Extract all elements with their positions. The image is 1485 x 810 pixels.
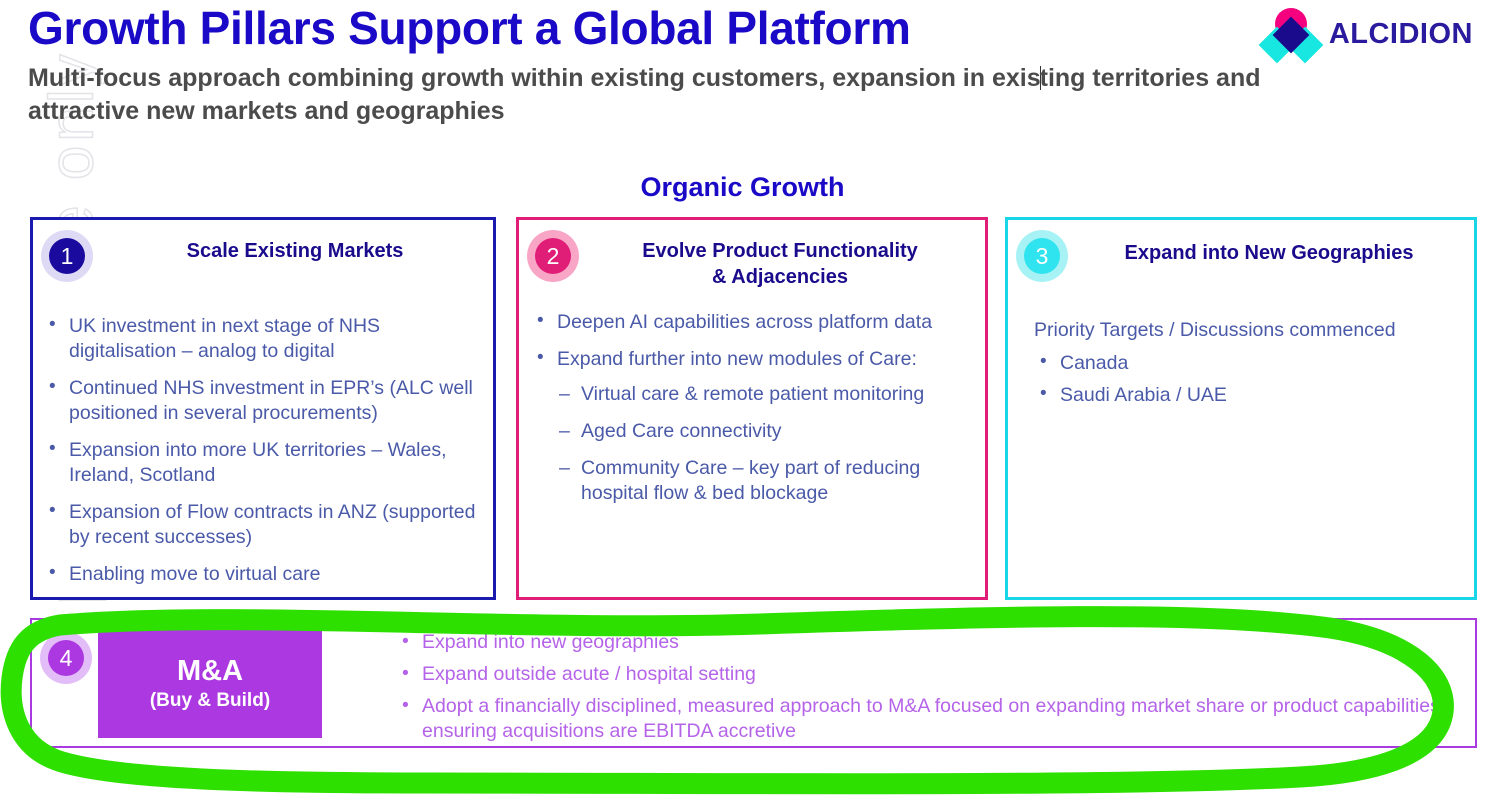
- pillar-sub-bullet-list-2: Virtual care & remote patient monitoring…: [557, 382, 969, 506]
- pillar-badge-4-number: 4: [48, 640, 84, 676]
- pillar-card-evolve-product-functionality: 2 Evolve Product Functionality & Adjacen…: [516, 217, 988, 600]
- list-item: Saudi Arabia / UAE: [1034, 383, 1458, 408]
- ma-label-main: M&A: [177, 656, 243, 686]
- page-title: Growth Pillars Support a Global Platform: [28, 2, 1228, 55]
- pillar-badge-2: 2: [527, 230, 579, 282]
- list-item: Expansion of Flow contracts in ANZ (supp…: [47, 500, 477, 550]
- pillar-card-header: 2 Evolve Product Functionality & Adjacen…: [519, 220, 985, 296]
- pillar-title-2: Evolve Product Functionality & Adjacenci…: [583, 238, 977, 290]
- pillar-body-2: Deepen AI capabilities across platform d…: [519, 296, 985, 506]
- pillar-bullet-list-1: UK investment in next stage of NHS digit…: [47, 314, 477, 587]
- pillar-badge-2-number: 2: [535, 238, 571, 274]
- ma-label-sub: (Buy & Build): [150, 690, 270, 712]
- sub-list-item: Virtual care & remote patient monitoring: [557, 382, 969, 407]
- list-item: Expansion into more UK territories – Wal…: [47, 438, 477, 488]
- pillar-bullet-list-3: Canada Saudi Arabia / UAE: [1034, 351, 1458, 408]
- pillar-body-3: Priority Targets / Discussions commenced…: [1008, 296, 1474, 408]
- page-subtitle-part1: Multi-focus approach combining growth wi…: [28, 64, 1041, 92]
- sub-list-item: Aged Care connectivity: [557, 419, 969, 444]
- pillar-3-intro: Priority Targets / Discussions commenced: [1034, 318, 1458, 343]
- alcidion-logo: ALCIDION: [1263, 8, 1473, 60]
- pillar-title-1: Scale Existing Markets: [105, 238, 485, 264]
- logo-wordmark: ALCIDION: [1329, 18, 1473, 51]
- list-item: Canada: [1034, 351, 1458, 376]
- pillar-bullet-list-2: Deepen AI capabilities across platform d…: [535, 310, 969, 506]
- ma-label-box: M&A (Buy & Build): [98, 630, 322, 738]
- list-item: Continued NHS investment in EPR’s (ALC w…: [47, 376, 477, 426]
- list-item: Expand further into new modules of Care:…: [535, 347, 969, 506]
- pillar-card-header: 3 Expand into New Geographies: [1008, 220, 1474, 296]
- pillar-title-2-line1: Evolve Product Functionality: [583, 238, 977, 264]
- list-item: Expand outside acute / hospital setting: [400, 662, 1461, 687]
- pillar-badge-1: 1: [41, 230, 93, 282]
- list-item: Adopt a financially disciplined, measure…: [400, 694, 1461, 744]
- page-subtitle: Multi-focus approach combining growth wi…: [28, 62, 1368, 128]
- pillar-body-1: UK investment in next stage of NHS digit…: [33, 296, 493, 587]
- pillar-badge-3-number: 3: [1024, 238, 1060, 274]
- pillar-badge-4: 4: [40, 632, 92, 684]
- ma-bullet-list: Expand into new geographies Expand outsi…: [400, 630, 1461, 751]
- list-item: Expand into new geographies: [400, 630, 1461, 655]
- pillar-card-header: 1 Scale Existing Markets: [33, 220, 493, 296]
- pillar-badge-3: 3: [1016, 230, 1068, 282]
- pillar-card-expand-new-geographies: 3 Expand into New Geographies Priority T…: [1005, 217, 1477, 600]
- list-item: Deepen AI capabilities across platform d…: [535, 310, 969, 335]
- ma-bullet-list-items: Expand into new geographies Expand outsi…: [400, 630, 1461, 744]
- alcidion-logo-mark: [1263, 8, 1319, 60]
- pillar-title-2-line2: & Adjacencies: [583, 264, 977, 290]
- pillar-title-3: Expand into New Geographies: [1072, 240, 1466, 266]
- sub-list-item: Community Care – key part of reducing ho…: [557, 456, 969, 506]
- list-item: Enabling move to virtual care: [47, 562, 477, 587]
- list-item: UK investment in next stage of NHS digit…: [47, 314, 477, 364]
- list-item-label: Expand further into new modules of Care:: [557, 348, 917, 370]
- ma-badge-wrap: 4: [40, 632, 92, 684]
- ma-row: 4 M&A (Buy & Build) Expand into new geog…: [30, 618, 1477, 748]
- pillar-badge-1-number: 1: [49, 238, 85, 274]
- pillar-card-scale-existing-markets: 1 Scale Existing Markets UK investment i…: [30, 217, 496, 600]
- organic-growth-label: Organic Growth: [0, 172, 1485, 203]
